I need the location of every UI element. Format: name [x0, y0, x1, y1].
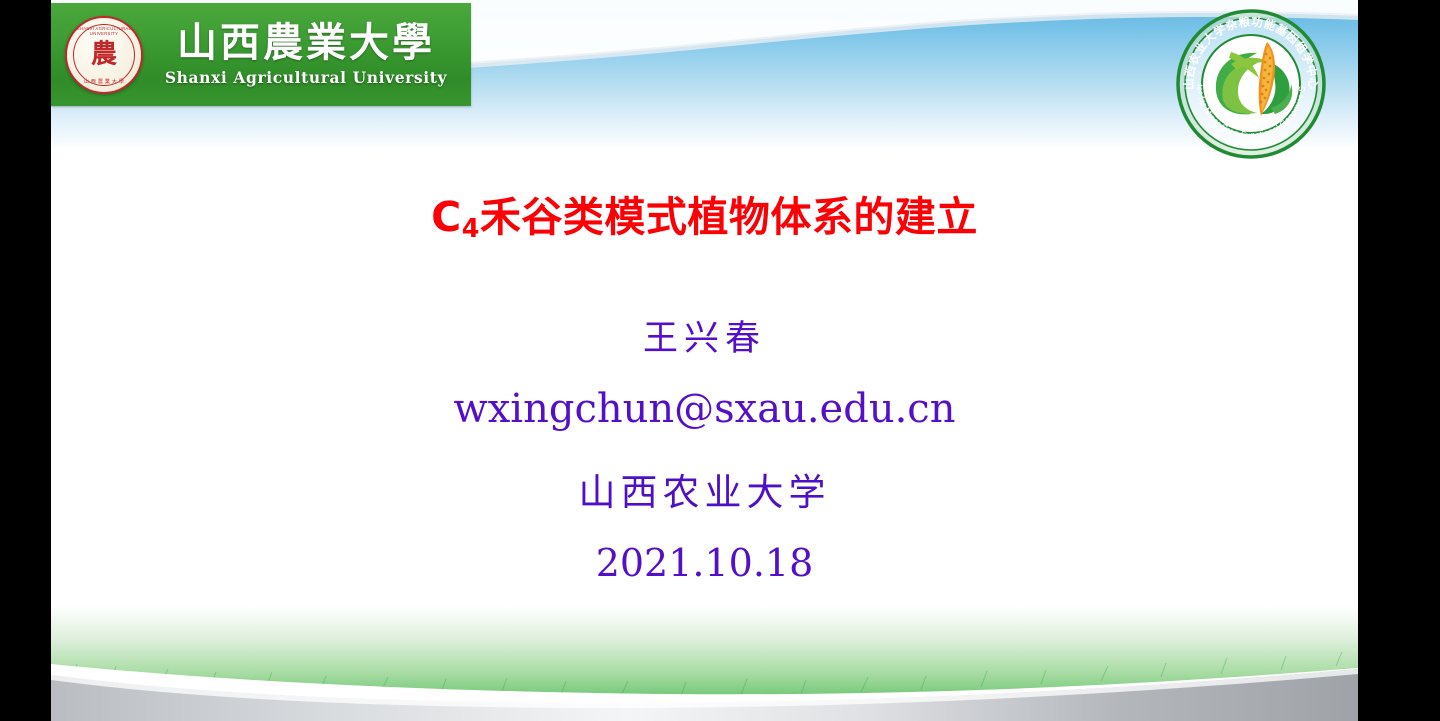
video-frame: SHANXI AGRICULTURAL UNIVERSITY 農 山 西 農 業…	[0, 0, 1440, 721]
genomics-center-logo-icon: 山西农业大学杂粮功能基因组学中心 Center for Minor Crop F…	[1171, 4, 1331, 164]
presentation-slide: SHANXI AGRICULTURAL UNIVERSITY 農 山 西 農 業…	[51, 0, 1358, 721]
title-subscript: 4	[462, 213, 480, 243]
seal-arc-top-text: SHANXI AGRICULTURAL UNIVERSITY	[67, 26, 141, 36]
university-name-cn: 山西農業大學	[149, 23, 463, 63]
presentation-date: 2021.10.18	[51, 541, 1358, 585]
title-rest: 禾谷类模式植物体系的建立	[480, 193, 978, 241]
seal-center-glyph: 農	[67, 41, 141, 67]
title-prefix: C	[431, 193, 462, 241]
university-name-en: Shanxi Agricultural University	[149, 68, 463, 87]
letterbox-bar-right	[1358, 0, 1440, 721]
university-seal-icon: SHANXI AGRICULTURAL UNIVERSITY 農 山 西 農 業…	[65, 16, 143, 94]
letterbox-bar-left	[0, 0, 51, 721]
university-banner: SHANXI AGRICULTURAL UNIVERSITY 農 山 西 農 業…	[51, 3, 471, 106]
author-email[interactable]: wxingchun@sxau.edu.cn	[51, 386, 1358, 432]
bottom-wave-decoration	[51, 669, 1358, 721]
university-name-block: 山西農業大學 Shanxi Agricultural University	[143, 23, 471, 87]
seal-arc-bottom-text: 山 西 農 業 大 學	[67, 78, 141, 85]
slide-title: C4禾谷类模式植物体系的建立	[51, 183, 1358, 243]
affiliation: 山西农业大学	[51, 462, 1358, 516]
author-name: 王兴春	[51, 310, 1358, 361]
